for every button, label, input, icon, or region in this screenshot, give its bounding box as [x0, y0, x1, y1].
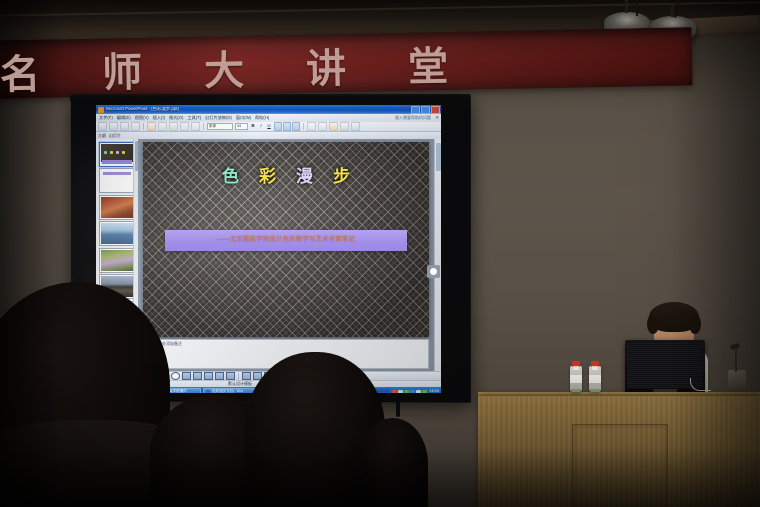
menu-item-insert[interactable]: 插入(I): [153, 116, 165, 120]
menu-item-view[interactable]: 视图(V): [135, 116, 149, 120]
antivirus-icon[interactable]: [392, 390, 397, 393]
undo-icon[interactable]: [191, 122, 200, 131]
light-cord: [636, 0, 638, 16]
slide-subtitle: ——北京服装学院设计色彩教学与艺术考察笔记: [217, 237, 355, 243]
slide-subtitle-bar[interactable]: ——北京服装学院设计色彩教学与艺术考察笔记: [165, 230, 407, 251]
slide-thumbnail-1[interactable]: [99, 142, 135, 167]
scrollbar-thumb[interactable]: [436, 143, 441, 171]
light-arm: [625, 0, 628, 13]
bold-button[interactable]: B: [250, 123, 256, 130]
font-color-icon[interactable]: [329, 122, 338, 131]
align-center-icon[interactable]: [283, 122, 291, 131]
bottle-neck: [573, 366, 579, 370]
underline-button[interactable]: U: [266, 123, 272, 130]
menu-item-slideshow[interactable]: 幻灯片放映(D): [205, 116, 232, 120]
design-icon[interactable]: [340, 122, 349, 131]
wordart-icon[interactable]: [193, 372, 202, 380]
slide-thumbnail-2[interactable]: [99, 168, 135, 193]
help-search-box[interactable]: 键入需要帮助的问题: [395, 116, 431, 120]
fill-color-icon[interactable]: [242, 372, 251, 380]
font-size-select[interactable]: 44: [235, 123, 248, 130]
banner-char: 讲: [305, 36, 348, 95]
spellcheck-icon[interactable]: [147, 122, 156, 131]
banner-char: 师: [101, 40, 144, 99]
align-right-icon[interactable]: [292, 122, 300, 131]
title-char-1: 色: [222, 168, 239, 185]
minimize-icon[interactable]: [411, 106, 420, 114]
taskbar-button-word[interactable]: 色彩漫步文档 - Wor: [203, 388, 255, 393]
tab-slides[interactable]: 幻灯片: [109, 134, 121, 138]
lecture-hall-scene: 名 师 大 讲 堂 Microsoft PowerPoint - [色彩漫步.p…: [0, 0, 760, 507]
banner-char: 堂: [407, 34, 450, 93]
thumb-title-chars: [104, 151, 125, 154]
save-icon[interactable]: [120, 122, 129, 131]
volume-icon[interactable]: [404, 390, 409, 393]
copy-icon[interactable]: [169, 122, 178, 131]
slide-vertical-scrollbar[interactable]: [434, 139, 441, 371]
window-controls[interactable]: [411, 106, 440, 114]
new-slide-icon[interactable]: [351, 122, 360, 131]
tab-outline[interactable]: 大纲: [98, 134, 106, 138]
menu-item-help[interactable]: 帮助(H): [255, 116, 269, 120]
thumb-subtitle-bar: [102, 160, 132, 164]
bottle-neck: [592, 366, 598, 370]
bottle-label: [589, 375, 601, 383]
slide-thumbnail-3[interactable]: [99, 195, 135, 220]
title-char-3: 漫: [296, 168, 313, 185]
menu-item-file[interactable]: 文件(F): [99, 116, 113, 120]
decrease-font-icon[interactable]: [318, 122, 327, 131]
paste-icon[interactable]: [180, 122, 189, 131]
menu-item-edit[interactable]: 编辑(E): [117, 116, 131, 120]
toolbar-separator: [203, 123, 204, 130]
menu-item-tools[interactable]: 工具(T): [187, 116, 201, 120]
increase-font-icon[interactable]: [307, 122, 316, 131]
font-name-select[interactable]: 宋体: [207, 123, 233, 130]
bottle-base: [590, 389, 600, 392]
standard-toolbar[interactable]: 宋体 44 B I U: [96, 122, 441, 132]
close-document-icon[interactable]: ✕: [435, 116, 439, 121]
presenter-eye: [674, 324, 680, 327]
microphone-stem: [735, 348, 737, 372]
slide-canvas-area: 色 彩 漫 步 ——北京服装学院设计色彩教学与艺术考察笔记 单击此处添加备注: [138, 139, 435, 371]
slide-thumbnail-5[interactable]: [99, 248, 135, 273]
taskbar-clock: 18:29: [429, 390, 439, 393]
thumb-photo: [101, 223, 133, 244]
textbox-icon[interactable]: [182, 372, 191, 380]
toolbar-separator: [303, 123, 304, 130]
diagram-icon[interactable]: [204, 372, 213, 380]
water-bottle: [570, 366, 582, 392]
thumb-photo: [101, 197, 133, 218]
toolbar-separator: [238, 373, 239, 380]
podium-panel: [572, 424, 668, 507]
system-tray[interactable]: 18:29: [390, 387, 441, 393]
window-title: Microsoft PowerPoint - [色彩漫步.ppt]: [106, 107, 179, 111]
bottle-base: [571, 389, 581, 392]
clipart-icon[interactable]: [215, 372, 224, 380]
presenter-hair: [649, 302, 699, 332]
powerpoint-icon: [98, 107, 104, 113]
update-icon[interactable]: [422, 390, 427, 393]
presenter-eye: [660, 324, 666, 327]
print-icon[interactable]: [131, 122, 140, 131]
title-char-2: 彩: [259, 168, 276, 185]
ime-icon[interactable]: [410, 390, 415, 393]
current-slide[interactable]: 色 彩 漫 步 ——北京服装学院设计色彩教学与艺术考察笔记: [143, 142, 429, 337]
menu-bar[interactable]: 文件(F) 编辑(E) 视图(V) 插入(I) 格式(O) 工具(T) 幻灯片放…: [96, 114, 441, 122]
open-icon[interactable]: [109, 122, 118, 131]
cut-icon[interactable]: [158, 122, 167, 131]
title-bar: Microsoft PowerPoint - [色彩漫步.ppt]: [96, 105, 441, 114]
light-lens: [613, 14, 641, 28]
taskbar-button-label: 色彩漫步文档 - Wor: [212, 390, 243, 393]
align-left-icon[interactable]: [274, 122, 282, 131]
close-icon[interactable]: [431, 106, 440, 114]
water-bottle: [589, 366, 601, 392]
thumb-photo: [101, 250, 133, 271]
italic-button[interactable]: I: [258, 123, 264, 130]
title-char-4: 步: [333, 168, 350, 185]
toolbar-separator: [143, 123, 144, 130]
audience-silhouette: [358, 418, 428, 507]
thumb-bar: [103, 172, 131, 175]
bottle-label: [570, 375, 582, 383]
banner-char: 名: [0, 42, 43, 101]
alignment-group[interactable]: [274, 122, 300, 131]
monitor-cable: [690, 378, 711, 391]
projector-hotspot-icon[interactable]: [427, 265, 440, 278]
new-icon[interactable]: [98, 122, 107, 131]
maximize-icon[interactable]: [421, 106, 430, 114]
design-template-label: 默认设计模板: [228, 382, 252, 386]
usb-icon[interactable]: [416, 390, 421, 393]
network-icon[interactable]: [398, 390, 403, 393]
banner-char: 大: [203, 38, 246, 97]
picture-icon[interactable]: [226, 372, 235, 380]
slide-thumbnail-4[interactable]: [99, 221, 135, 246]
outline-slides-tabs[interactable]: 大纲 幻灯片: [96, 132, 441, 139]
menu-item-window[interactable]: 窗口(W): [236, 116, 251, 120]
menu-item-format[interactable]: 格式(O): [169, 116, 183, 120]
oval-icon[interactable]: [171, 372, 180, 380]
word-icon: [206, 390, 210, 393]
screen-hook-icon: [396, 400, 400, 417]
slide-title[interactable]: 色 彩 漫 步: [143, 168, 429, 185]
